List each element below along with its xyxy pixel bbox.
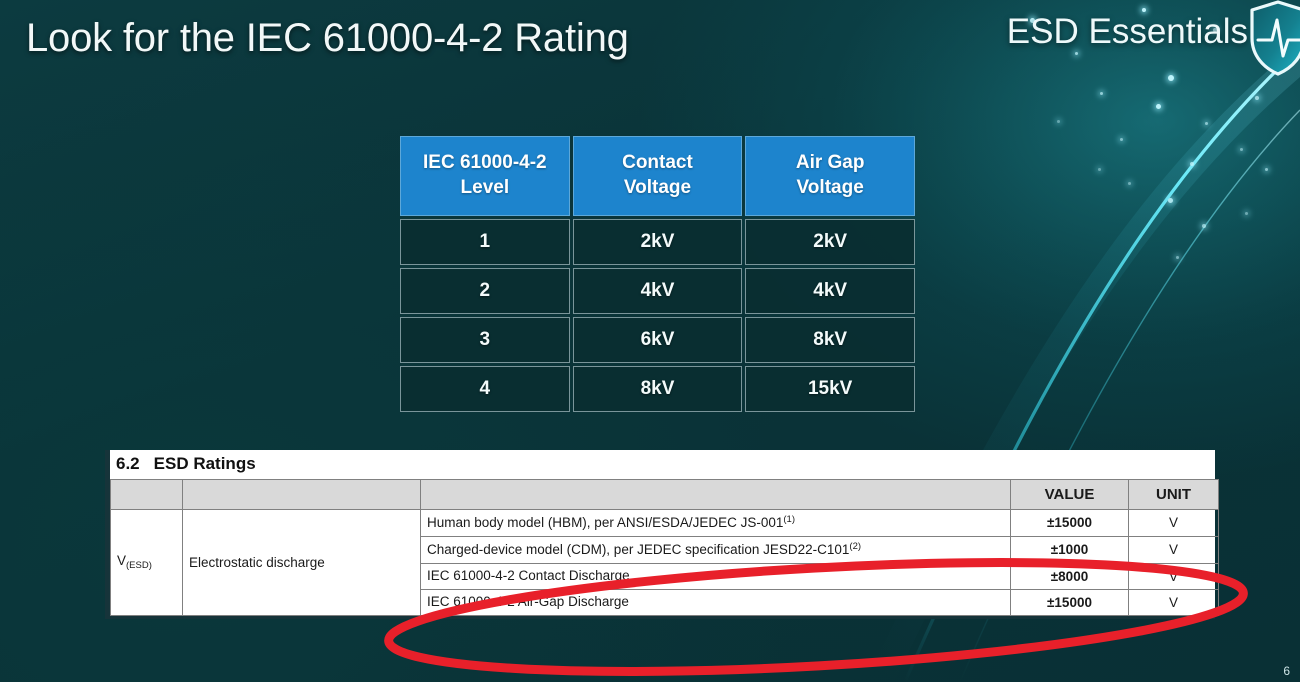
- particle-dot: [1100, 92, 1103, 95]
- particle-dot: [1057, 120, 1060, 123]
- particle-dot: [1120, 138, 1123, 141]
- column-header-test-condition: [421, 480, 1011, 510]
- cell-contact: 4kV: [573, 268, 743, 314]
- cell-value: ±15000: [1011, 589, 1129, 615]
- slide-canvas: Look for the IEC 61000-4-2 Rating ESD Es…: [0, 0, 1300, 682]
- datasheet-excerpt: 6.2ESD Ratings VALUE UNIT V(ESD): [105, 450, 1215, 619]
- cell-airgap: 15kV: [745, 366, 915, 412]
- cell-value: ±15000: [1011, 510, 1129, 537]
- header-line-2: Level: [461, 177, 510, 198]
- column-header-air-gap-voltage: Air Gap Voltage: [745, 136, 915, 216]
- section-title-text: ESD Ratings: [154, 454, 256, 473]
- column-header-contact-voltage: Contact Voltage: [573, 136, 743, 216]
- cell-level: 4: [400, 366, 570, 412]
- slide-title: Look for the IEC 61000-4-2 Rating: [26, 16, 629, 61]
- cell-unit: V: [1129, 563, 1219, 589]
- symbol-base: V: [117, 553, 126, 568]
- cell-parameter: Electrostatic discharge: [183, 510, 421, 616]
- particle-dot: [1176, 256, 1179, 259]
- iec-level-table: IEC 61000-4-2 Level Contact Voltage Air …: [397, 133, 918, 415]
- particle-dot: [1190, 162, 1194, 166]
- cell-level: 2: [400, 268, 570, 314]
- section-number: 6.2: [116, 454, 140, 473]
- cell-contact: 2kV: [573, 219, 743, 265]
- cell-test-condition: Human body model (HBM), per ANSI/ESDA/JE…: [421, 510, 1011, 537]
- cell-test-condition: Charged-device model (CDM), per JEDEC sp…: [421, 536, 1011, 563]
- table-row: 2 4kV 4kV: [400, 268, 915, 314]
- header-line-2: Voltage: [797, 177, 864, 198]
- cell-airgap: 8kV: [745, 317, 915, 363]
- cell-value: ±1000: [1011, 536, 1129, 563]
- cell-airgap: 2kV: [745, 219, 915, 265]
- particle-dot: [1265, 168, 1268, 171]
- particle-dot: [1245, 212, 1248, 215]
- cell-symbol: V(ESD): [111, 510, 183, 616]
- header-line-1: Contact: [622, 152, 693, 173]
- column-header-level: IEC 61000-4-2 Level: [400, 136, 570, 216]
- cell-contact: 8kV: [573, 366, 743, 412]
- test-text: Human body model (HBM), per ANSI/ESDA/JE…: [427, 515, 783, 530]
- particle-dot: [1075, 52, 1078, 55]
- page-number: 6: [1283, 664, 1290, 678]
- column-header-parameter: [183, 480, 421, 510]
- cell-contact: 6kV: [573, 317, 743, 363]
- header-line-1: IEC 61000-4-2: [423, 152, 547, 173]
- particle-dot: [1202, 224, 1206, 228]
- table-row: 3 6kV 8kV: [400, 317, 915, 363]
- particle-dot: [1168, 198, 1173, 203]
- header-line-2: Voltage: [624, 177, 691, 198]
- footnote-ref: (1): [783, 514, 795, 525]
- cell-unit: V: [1129, 510, 1219, 537]
- cell-test-condition: IEC 61000-4-2 Contact Discharge: [421, 563, 1011, 589]
- particle-dot: [1128, 182, 1131, 185]
- symbol-subscript: (ESD): [126, 560, 152, 571]
- column-header-value: VALUE: [1011, 480, 1129, 510]
- table-row: 4 8kV 15kV: [400, 366, 915, 412]
- particle-dot: [1255, 96, 1259, 100]
- column-header-symbol: [111, 480, 183, 510]
- cell-level: 3: [400, 317, 570, 363]
- particle-dot: [1168, 75, 1174, 81]
- cell-unit: V: [1129, 536, 1219, 563]
- particle-dot: [1098, 168, 1101, 171]
- column-header-unit: UNIT: [1129, 480, 1219, 510]
- table-row: 1 2kV 2kV: [400, 219, 915, 265]
- particle-dot: [1205, 122, 1208, 125]
- cell-unit: V: [1129, 589, 1219, 615]
- esd-shield-logo-icon: [1248, 0, 1300, 76]
- cell-level: 1: [400, 219, 570, 265]
- datasheet-header-row: VALUE UNIT: [111, 480, 1219, 510]
- cell-value: ±8000: [1011, 563, 1129, 589]
- brand-label: ESD Essentials: [1007, 12, 1248, 52]
- cell-airgap: 4kV: [745, 268, 915, 314]
- cell-test-condition: IEC 61000-4-2 Air-Gap Discharge: [421, 589, 1011, 615]
- particle-dot: [1240, 148, 1243, 151]
- test-text: Charged-device model (CDM), per JEDEC sp…: [427, 542, 849, 557]
- table-row: V(ESD) Electrostatic discharge Human bod…: [111, 510, 1219, 537]
- datasheet-section-title: 6.2ESD Ratings: [110, 450, 1215, 479]
- header-line-1: Air Gap: [796, 152, 865, 173]
- table-header-row: IEC 61000-4-2 Level Contact Voltage Air …: [400, 136, 915, 216]
- esd-ratings-table: VALUE UNIT V(ESD) Electrostatic discharg…: [110, 479, 1219, 616]
- footnote-ref: (2): [849, 541, 861, 552]
- particle-dot: [1156, 104, 1161, 109]
